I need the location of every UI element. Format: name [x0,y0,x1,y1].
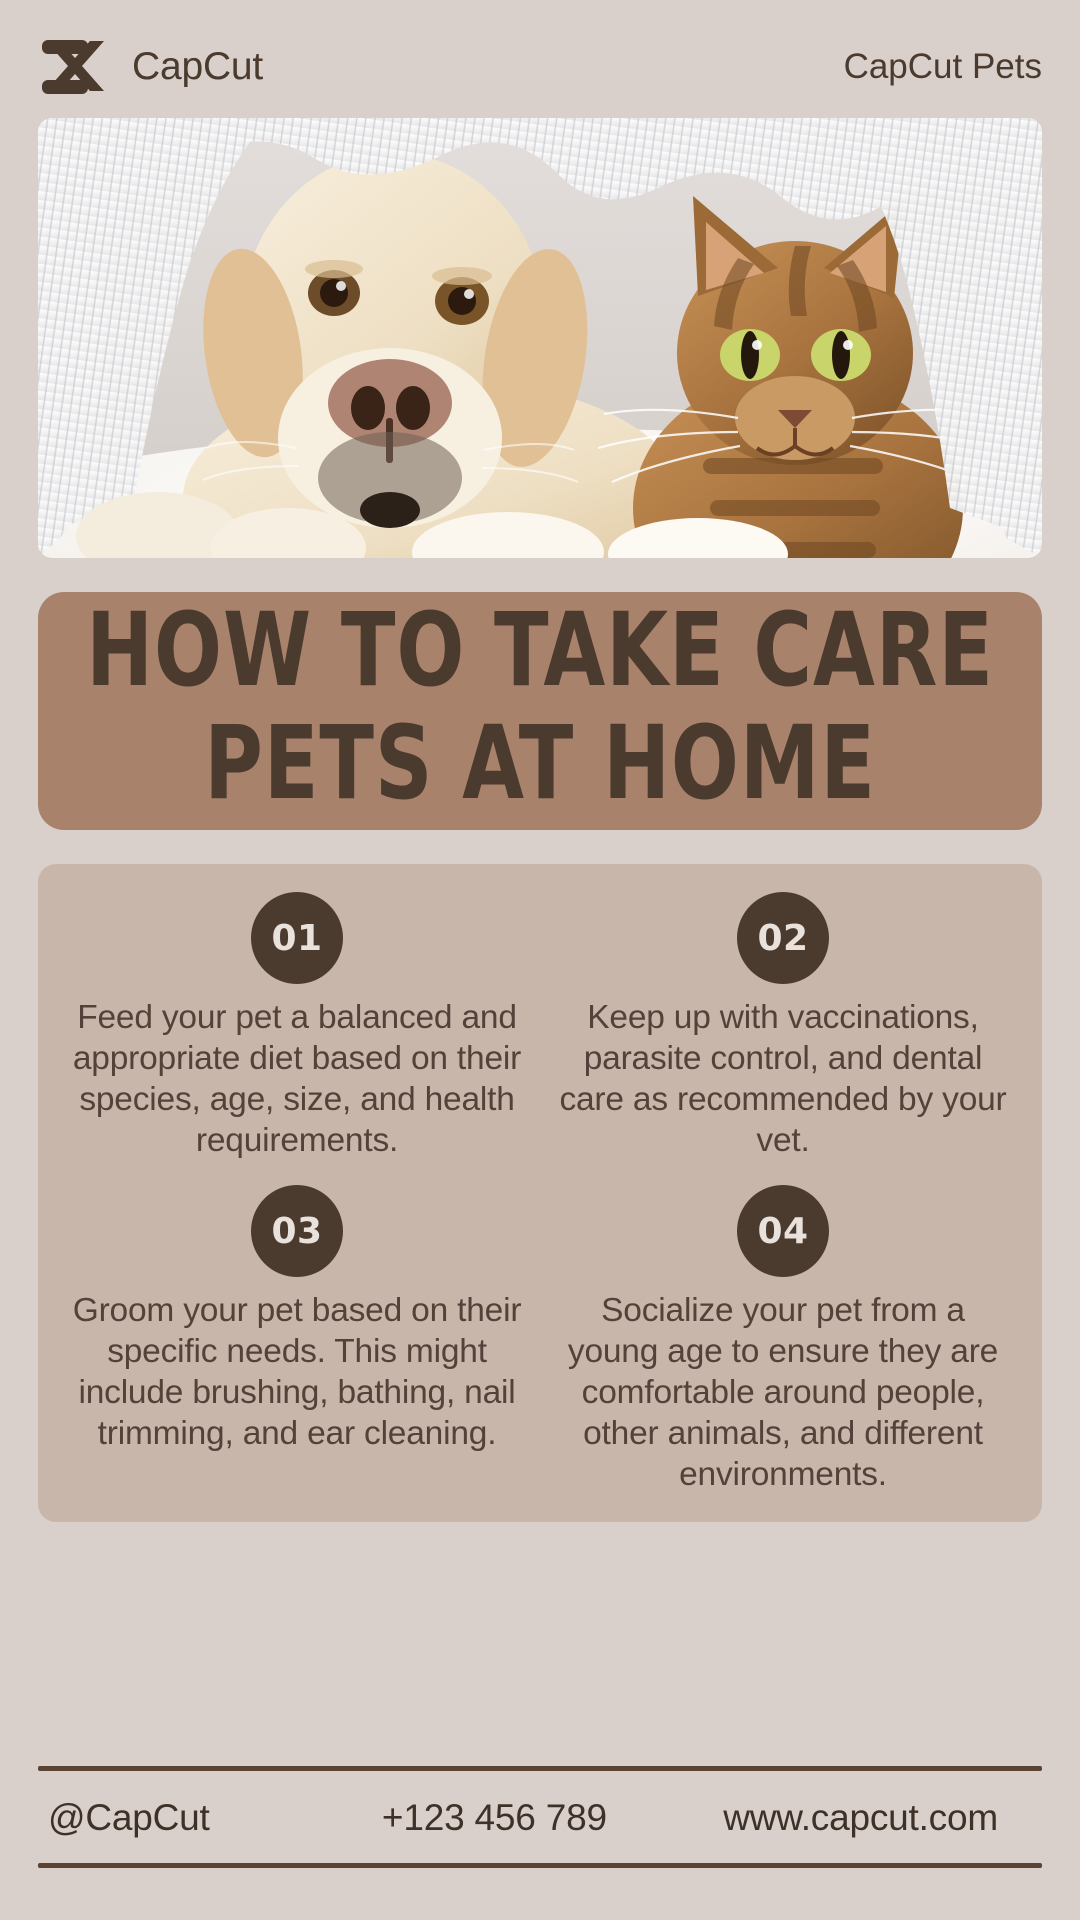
capcut-logo-icon [38,36,110,98]
infographic-poster: CapCut CapCut Pets [0,0,1080,1920]
footer-phone[interactable]: +123 456 789 [382,1797,607,1839]
header: CapCut CapCut Pets [38,0,1042,118]
header-right-label: CapCut Pets [844,47,1042,87]
hero-image [38,118,1042,558]
tip-item-04: 04 Socialize your pet from a young age t… [540,1167,1026,1495]
tip-number-03: 03 [271,1211,322,1252]
tip-text-02: Keep up with vaccinations, parasite cont… [552,998,1014,1161]
brand: CapCut [38,36,263,98]
tip-item-03: 03 Groom your pet based on their specifi… [54,1167,540,1495]
tip-number-01: 01 [271,918,322,959]
tip-badge-04: 04 [737,1185,829,1277]
tip-number-02: 02 [757,918,808,959]
title-line-1: HOW TO TAKE CARE [86,602,994,700]
footer-bottom-rule [38,1863,1042,1868]
tips-card: 01 Feed your pet a balanced and appropri… [38,864,1042,1522]
tip-text-01: Feed your pet a balanced and appropriate… [66,998,528,1161]
footer-contact-row: @CapCut +123 456 789 www.capcut.com [38,1771,1042,1863]
tip-item-01: 01 Feed your pet a balanced and appropri… [54,892,540,1161]
tip-number-04: 04 [757,1211,808,1252]
tip-text-03: Groom your pet based on their specific n… [66,1291,528,1454]
footer-website[interactable]: www.capcut.com [723,1797,998,1839]
title-banner: HOW TO TAKE CARE PETS AT HOME [38,592,1042,830]
tip-badge-01: 01 [251,892,343,984]
footer-social-handle[interactable]: @CapCut [48,1797,210,1839]
tip-item-02: 02 Keep up with vaccinations, parasite c… [540,892,1026,1161]
footer-section: @CapCut +123 456 789 www.capcut.com [38,1766,1042,1920]
pets-photo-illustration [38,118,1042,558]
tip-text-04: Socialize your pet from a young age to e… [552,1291,1014,1495]
brand-name: CapCut [132,45,263,89]
tip-badge-02: 02 [737,892,829,984]
title-line-2: PETS AT HOME [204,715,876,813]
tip-badge-03: 03 [251,1185,343,1277]
